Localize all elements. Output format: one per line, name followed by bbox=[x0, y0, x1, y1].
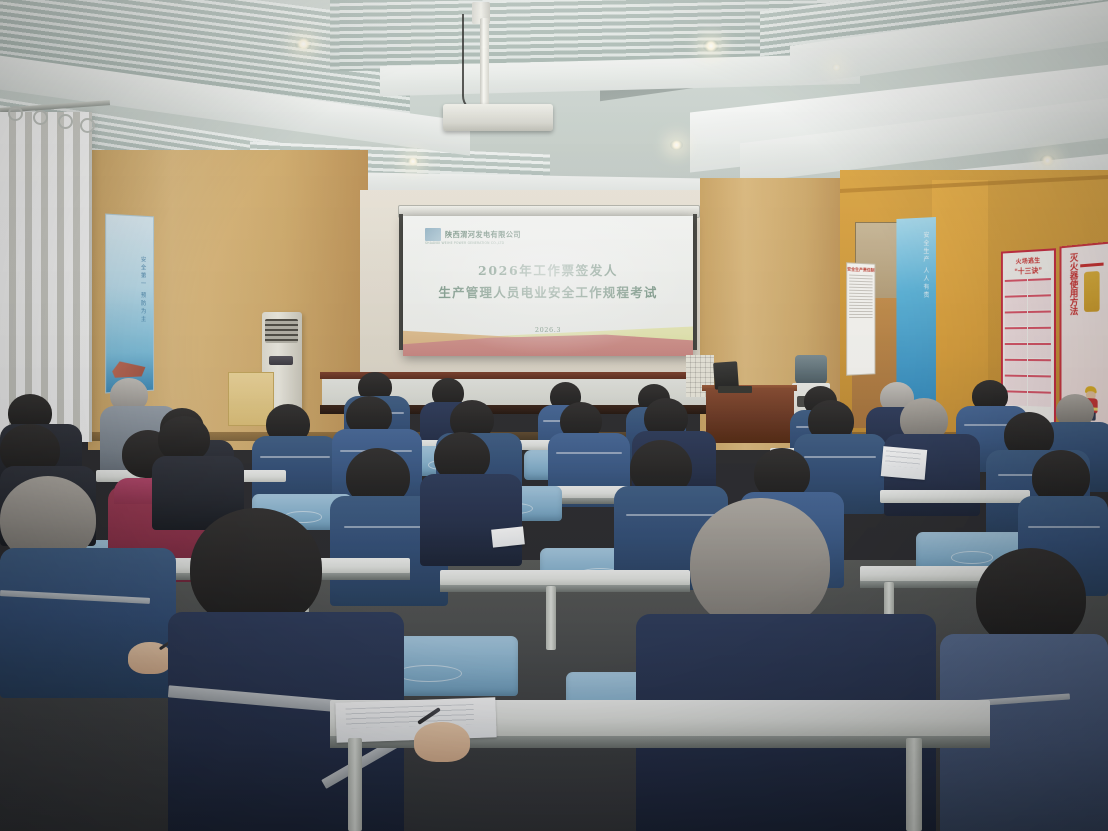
extinguisher-arrow bbox=[1080, 263, 1103, 268]
desk-row-3 bbox=[440, 570, 690, 586]
ceiling-downlight bbox=[1040, 155, 1055, 166]
exam-paper bbox=[491, 526, 525, 547]
attendee-torso bbox=[0, 548, 176, 698]
air-conditioner-grille bbox=[265, 319, 298, 343]
notice-line bbox=[849, 275, 872, 277]
wall-banner-right-text: 安全生产 人人有责 bbox=[921, 231, 930, 299]
desk-leg bbox=[906, 738, 922, 831]
notice-line bbox=[849, 296, 872, 297]
notice-line bbox=[849, 299, 872, 300]
desk-leg bbox=[348, 738, 362, 831]
uniform-piping bbox=[1028, 526, 1100, 528]
company-logo-subtext: SHAANXI WEIHE POWER GENERATION CO.,LTD bbox=[425, 241, 504, 245]
attendee-head bbox=[190, 508, 322, 628]
fire-extinguisher-poster-title: 灭火器使用方法 bbox=[1065, 253, 1078, 316]
wall-notice-title: 安全生产责任制 bbox=[847, 266, 874, 273]
uniform-piping bbox=[804, 456, 876, 458]
notice-line bbox=[849, 317, 872, 318]
curtain-grommet bbox=[58, 114, 73, 129]
front-desk bbox=[706, 388, 794, 443]
curtain-grommet bbox=[8, 106, 23, 121]
notice-line bbox=[849, 290, 872, 292]
slide-title-line2: 生产管理人员电业安全工作规程考试 bbox=[403, 282, 693, 301]
training-room-photo: 安全第一 预防为主 安全生产责任制 安全生产 人人有责 火场逃生 “十三诀” bbox=[0, 0, 1108, 831]
extinguisher-diagram bbox=[1084, 271, 1100, 312]
ceiling-downlight bbox=[670, 140, 683, 150]
projector-pole bbox=[480, 18, 489, 110]
wall-notice-board: 安全生产责任制 bbox=[846, 262, 875, 375]
keyboard-icon bbox=[718, 386, 752, 393]
notice-line bbox=[849, 293, 872, 295]
company-logo-text: 陕西渭河发电有限公司 bbox=[445, 230, 521, 240]
notice-line bbox=[849, 284, 872, 286]
notice-line bbox=[849, 314, 872, 315]
wall-banner-left: 安全第一 预防为主 bbox=[105, 214, 154, 394]
company-logo-mark-icon bbox=[425, 228, 441, 241]
notice-line bbox=[849, 278, 872, 280]
uniform-piping bbox=[626, 514, 716, 516]
uniform-piping bbox=[556, 452, 622, 454]
ceiling-downlight bbox=[295, 38, 312, 50]
projector-icon bbox=[443, 104, 553, 131]
attendee-head bbox=[690, 498, 830, 630]
slide-title-line1: 2026年工作票签发人 bbox=[403, 260, 693, 279]
writing-hand bbox=[414, 722, 470, 762]
curtain-grommet bbox=[80, 118, 95, 133]
screen-frame-right bbox=[693, 214, 697, 350]
projection-screen: 陕西渭河发电有限公司 SHAANXI WEIHE POWER GENERATIO… bbox=[403, 216, 693, 356]
desk-leg bbox=[546, 586, 556, 650]
notice-line bbox=[849, 311, 872, 312]
wall-banner-left-text: 安全第一 预防为主 bbox=[139, 256, 147, 324]
notice-line bbox=[849, 308, 872, 309]
slide-company-logo: 陕西渭河发电有限公司 bbox=[425, 228, 521, 241]
exam-paper bbox=[881, 446, 927, 480]
ceiling-downlight bbox=[703, 40, 719, 52]
ceiling-downlight bbox=[407, 157, 419, 166]
curtain-grommet bbox=[33, 110, 48, 125]
notice-line bbox=[849, 305, 872, 306]
banner-graphic bbox=[112, 360, 145, 377]
notice-line bbox=[849, 287, 872, 289]
paper-text-lines bbox=[884, 451, 920, 469]
notice-line bbox=[849, 281, 872, 283]
attendee-torso bbox=[420, 474, 522, 566]
window-curtain bbox=[0, 112, 92, 442]
poster-content-grid bbox=[1003, 275, 1054, 410]
uniform-piping bbox=[260, 456, 330, 458]
ceiling-downlight bbox=[832, 64, 841, 71]
air-conditioner-control-panel[interactable] bbox=[269, 356, 293, 365]
attendee-head bbox=[976, 548, 1086, 648]
water-bottle bbox=[795, 355, 827, 385]
notice-line bbox=[849, 302, 872, 303]
desk-row-2 bbox=[880, 490, 1030, 503]
desk-edge bbox=[440, 585, 690, 592]
